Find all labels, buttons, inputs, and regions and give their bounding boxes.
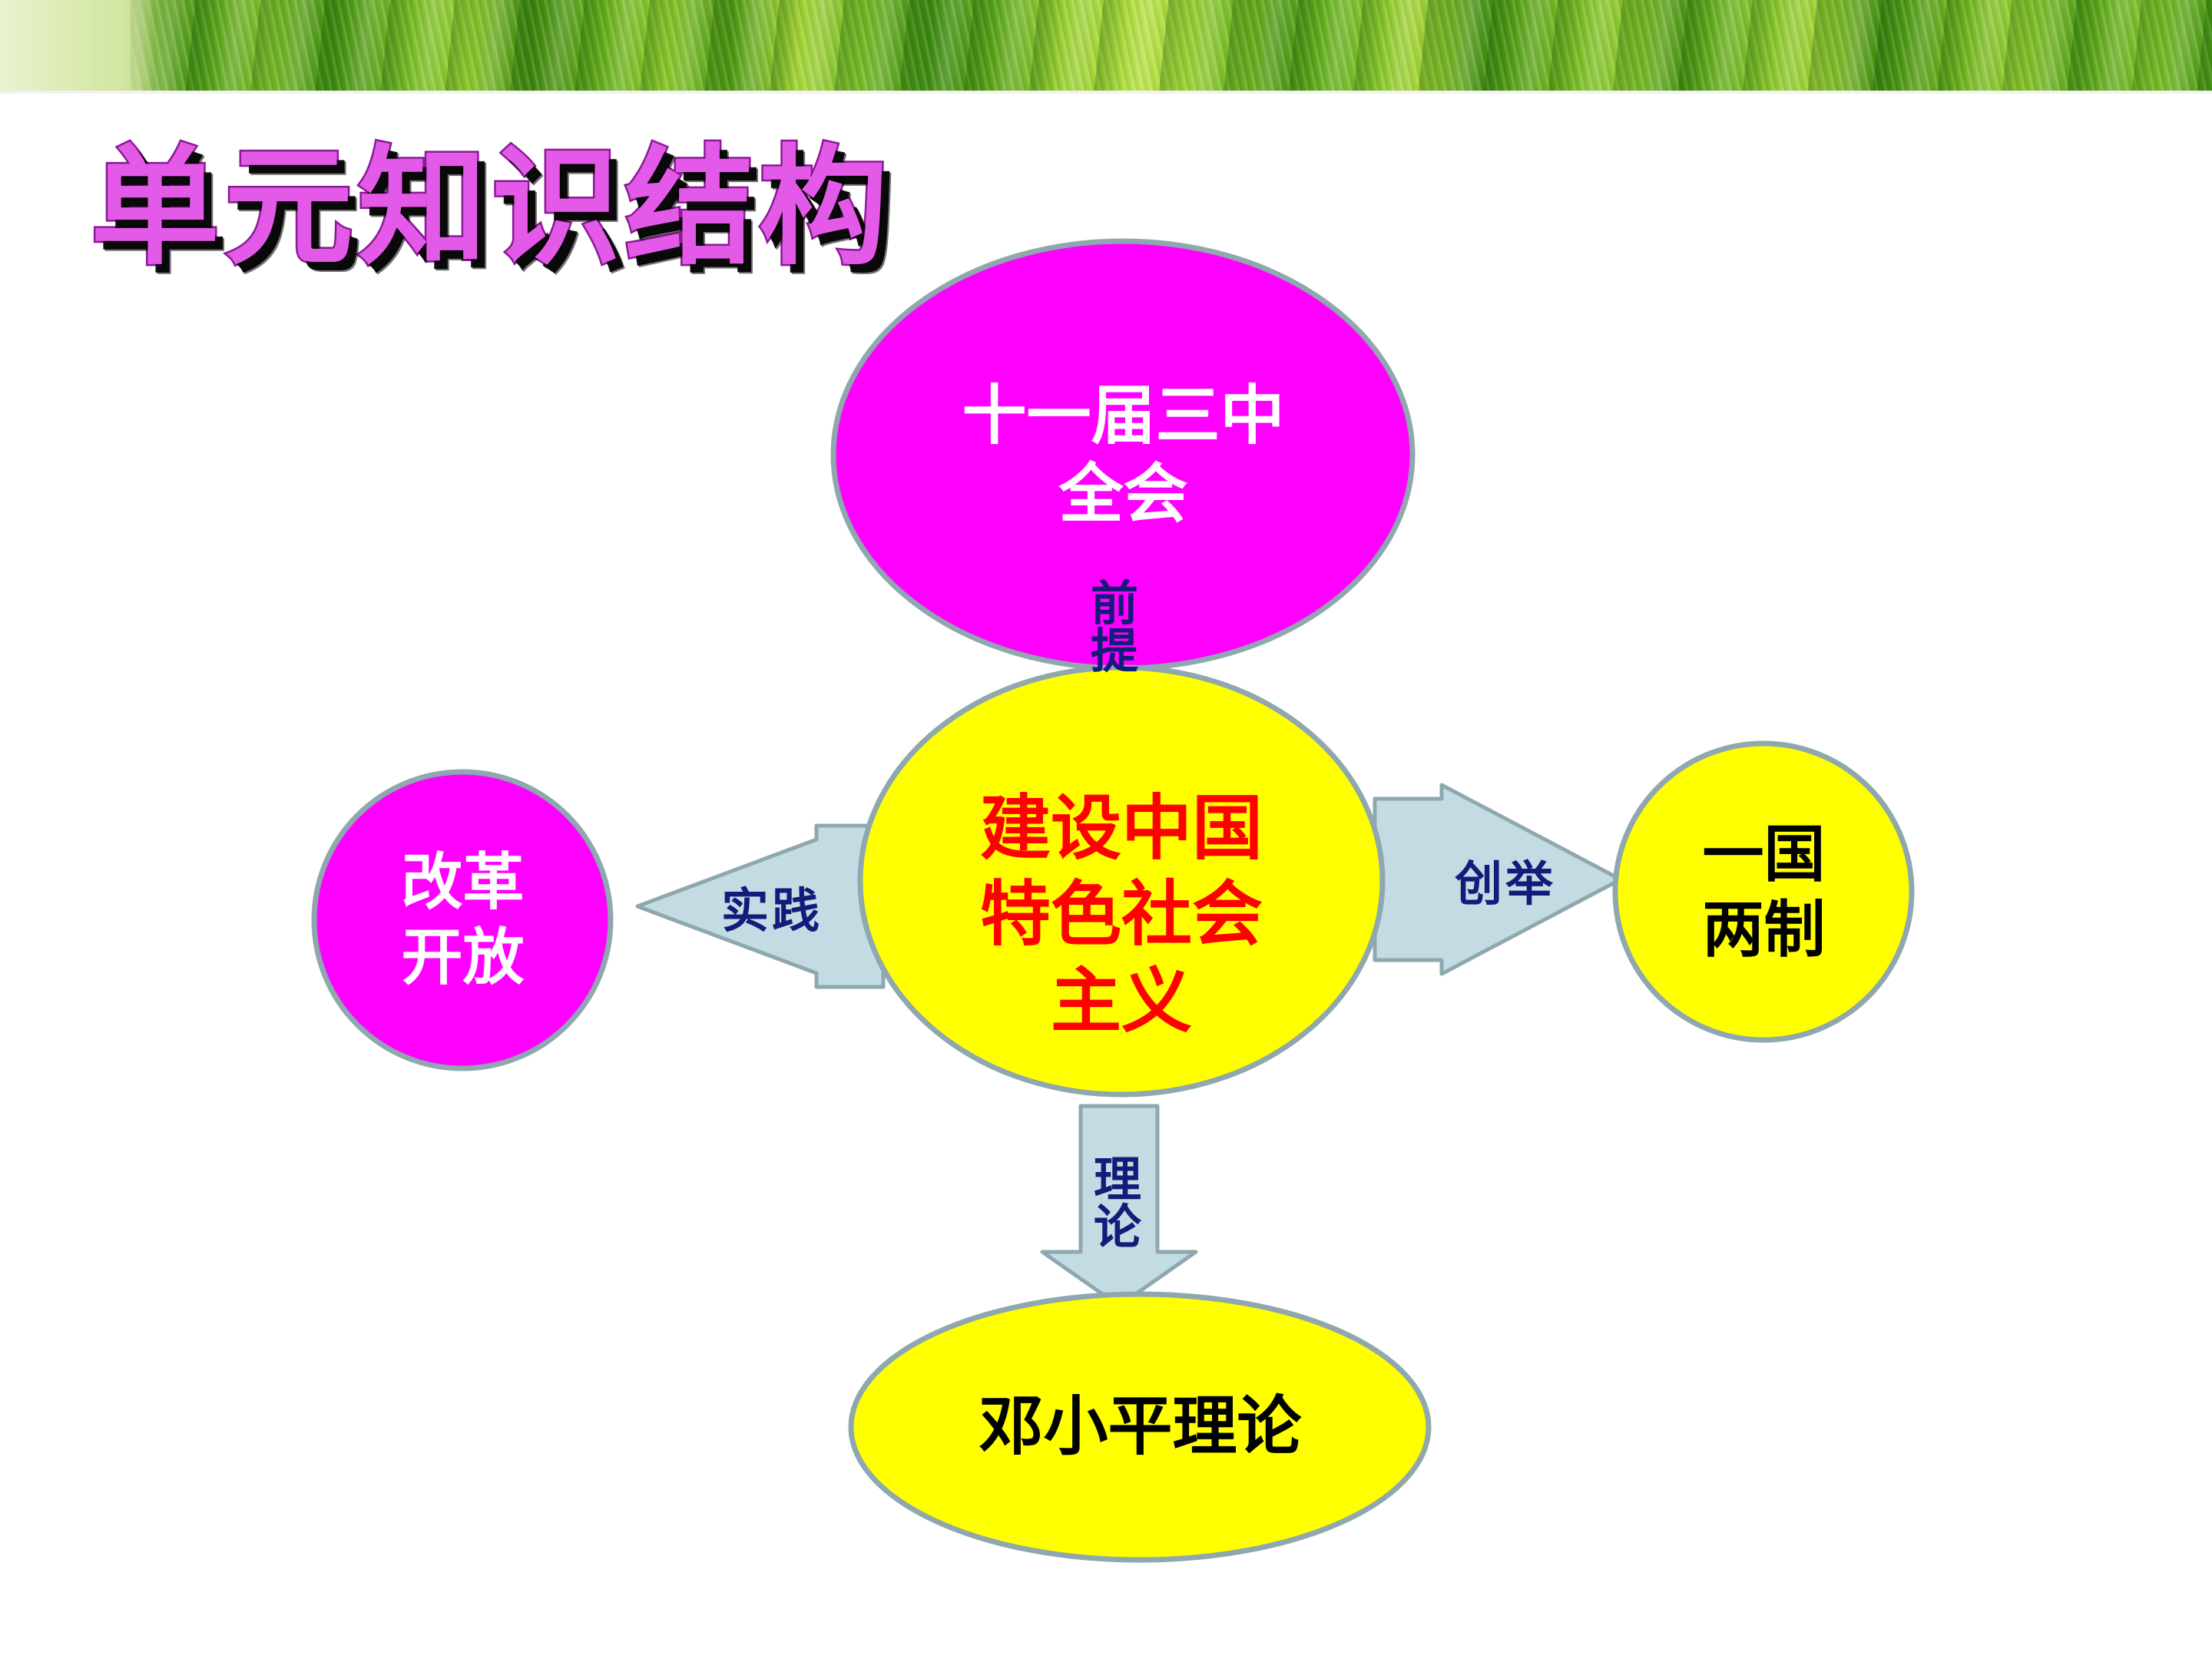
node-shape-right[interactable] bbox=[1615, 743, 1912, 1040]
knowledge-structure-diagram bbox=[0, 0, 2212, 1659]
arrow-right-innovation bbox=[1375, 785, 1621, 974]
node-shape-center[interactable] bbox=[860, 667, 1382, 1094]
node-shape-bottom[interactable] bbox=[851, 1294, 1429, 1560]
arrow-left-practice bbox=[637, 826, 883, 987]
arrow-down-theory bbox=[1042, 1106, 1196, 1306]
node-shape-top[interactable] bbox=[833, 241, 1412, 668]
node-shape-left[interactable] bbox=[314, 772, 611, 1068]
